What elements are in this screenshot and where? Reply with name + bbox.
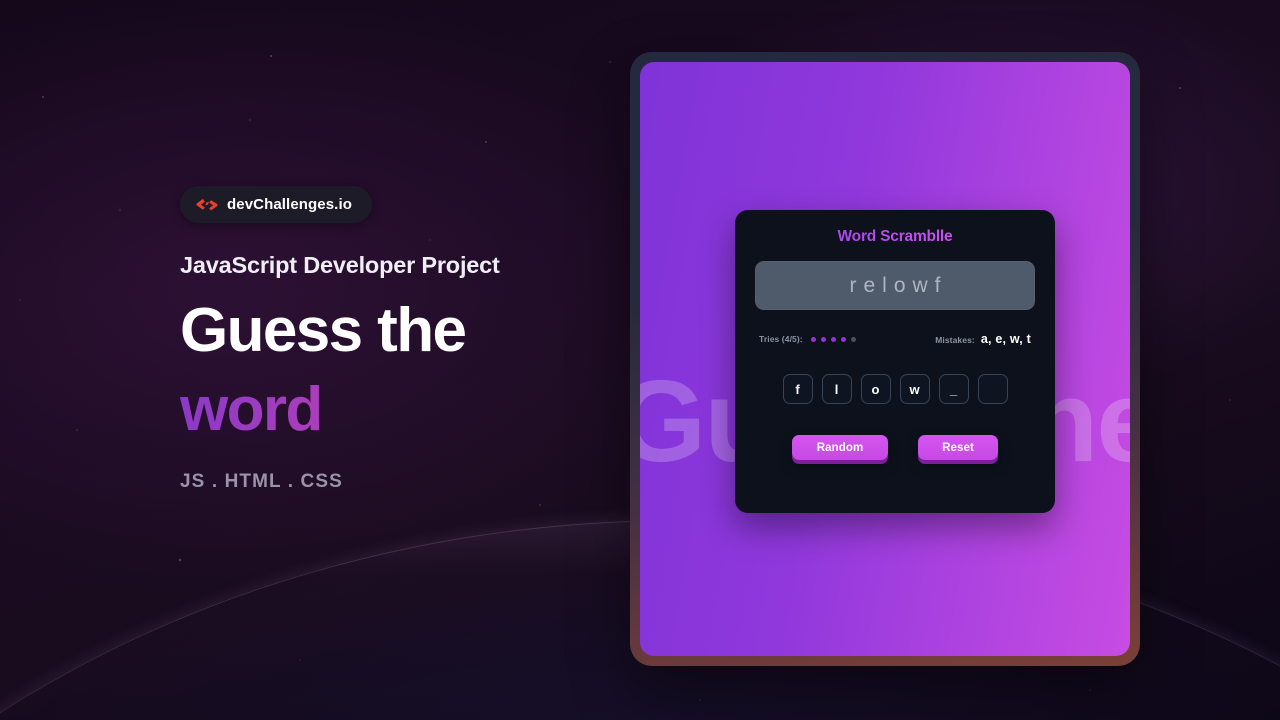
mistakes-label: Mistakes: (935, 335, 975, 345)
tries-dot-2 (821, 337, 826, 342)
game-status-row: Tries (4/5): Mistakes: a, e, w, t (755, 332, 1035, 346)
tries-dot-1 (811, 337, 816, 342)
mistakes-group: Mistakes: a, e, w, t (935, 332, 1031, 346)
tries-dots (811, 337, 856, 342)
random-button[interactable]: Random (792, 435, 888, 460)
letter-tile-6[interactable] (978, 374, 1008, 404)
hero-column: devChallenges.io JavaScript Developer Pr… (180, 186, 600, 493)
letter-tile-3[interactable]: o (861, 374, 891, 404)
word-scramble-app: Word Scramblle relowf Tries (4/5): (735, 210, 1055, 513)
project-kicker: JavaScript Developer Project (180, 252, 600, 279)
devchallenges-brackets-icon (196, 198, 218, 212)
tech-stack-label: JS . HTML . CSS (180, 471, 600, 493)
tries-group: Tries (4/5): (759, 334, 856, 344)
tries-dot-4 (841, 337, 846, 342)
scrambled-word-text: relowf (842, 274, 947, 298)
headline-line-2: word (180, 378, 600, 441)
letter-tile-4[interactable]: w (900, 374, 930, 404)
project-showcase-frame: Guess the word Word Scramblle relowf Tri… (630, 52, 1140, 666)
tries-dot-5 (851, 337, 856, 342)
letter-tiles: f l o w _ (755, 374, 1035, 404)
tries-dot-3 (831, 337, 836, 342)
page-root: devChallenges.io JavaScript Developer Pr… (0, 0, 1280, 720)
project-showcase-card: Guess the word Word Scramblle relowf Tri… (640, 62, 1130, 656)
tries-label: Tries (4/5): (759, 334, 803, 344)
letter-tile-2[interactable]: l (822, 374, 852, 404)
letter-tile-1[interactable]: f (783, 374, 813, 404)
headline-line-1: Guess the (180, 296, 465, 365)
devchallenges-badge-label: devChallenges.io (227, 196, 352, 213)
game-title: Word Scramblle (755, 228, 1035, 246)
scrambled-word-display[interactable]: relowf (755, 261, 1035, 310)
reset-button[interactable]: Reset (918, 435, 998, 460)
letter-tile-5[interactable]: _ (939, 374, 969, 404)
mistakes-letters: a, e, w, t (981, 332, 1031, 346)
devchallenges-badge[interactable]: devChallenges.io (180, 186, 372, 223)
page-title: Guess the word (180, 299, 600, 441)
game-actions: Random Reset (755, 435, 1035, 460)
